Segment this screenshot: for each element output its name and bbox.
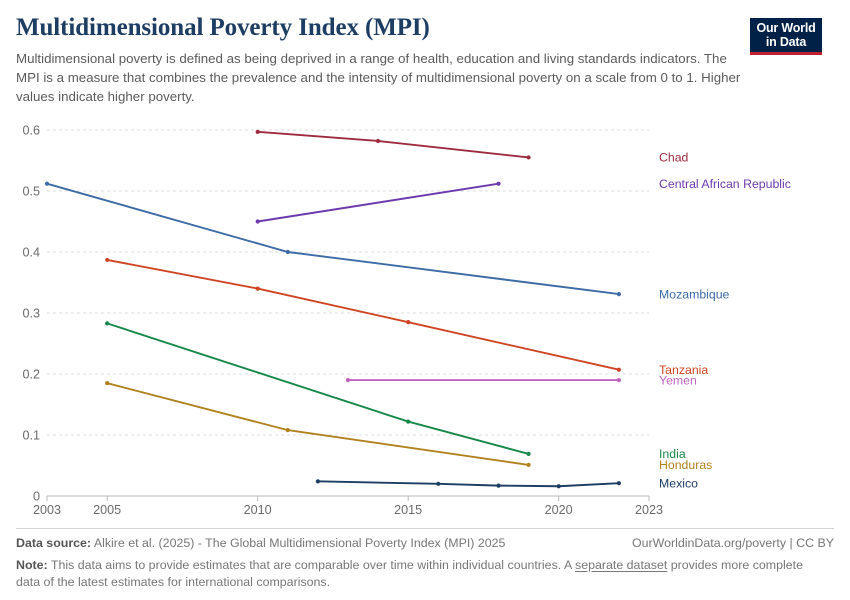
data-series[interactable] (105, 381, 531, 467)
owid-logo[interactable]: Our World in Data (750, 18, 822, 55)
data-point-marker[interactable] (105, 258, 109, 262)
data-point-marker[interactable] (256, 220, 260, 224)
y-axis-tick-label: 0.6 (22, 124, 40, 138)
chart-page: Multidimensional Poverty Index (MPI) Mul… (0, 0, 850, 600)
data-point-marker[interactable] (496, 484, 500, 488)
data-point-marker[interactable] (286, 250, 290, 254)
data-series[interactable] (105, 258, 621, 372)
note-text-before: This data aims to provide estimates that… (51, 558, 575, 572)
y-axis-tick-label: 0.5 (22, 185, 40, 199)
data-point-marker[interactable] (286, 428, 290, 432)
series-label[interactable]: Yemen (659, 374, 697, 388)
data-series[interactable] (105, 322, 531, 457)
attribution-link[interactable]: OurWorldinData.org/poverty | CC BY (632, 536, 834, 550)
y-axis-tick-label: 0 (33, 490, 40, 504)
data-point-marker[interactable] (527, 156, 531, 160)
y-axis-tick-label: 0.4 (22, 246, 40, 260)
series-line[interactable] (258, 132, 529, 158)
data-point-marker[interactable] (316, 480, 320, 484)
data-series[interactable] (256, 130, 531, 160)
series-label[interactable]: Honduras (659, 458, 712, 472)
series-line[interactable] (107, 383, 528, 465)
data-series[interactable] (45, 182, 621, 297)
x-axis-tick-label: 2005 (93, 503, 121, 517)
line-chart-svg[interactable]: 00.10.20.30.40.50.6 20032005201020152020… (16, 118, 834, 518)
series-label[interactable]: Chad (659, 151, 689, 165)
series-label[interactable]: Mozambique (659, 288, 730, 302)
data-source-label: Data source: (16, 536, 91, 550)
x-axis-tick-label: 2023 (635, 503, 663, 517)
chart-subtitle: Multidimensional poverty is defined as b… (16, 49, 751, 107)
grid-lines (47, 130, 649, 496)
data-point-marker[interactable] (105, 381, 109, 385)
data-point-marker[interactable] (256, 130, 260, 134)
x-axis-tick-label: 2020 (545, 503, 573, 517)
data-point-marker[interactable] (436, 482, 440, 486)
chart-footer: Data source: Alkire et al. (2025) - The … (16, 528, 834, 592)
data-series[interactable] (346, 378, 621, 382)
x-axis-tick-labels: 200320052010201520202023 (33, 503, 663, 517)
data-point-marker[interactable] (617, 481, 621, 485)
note-label: Note: (16, 558, 48, 572)
separate-dataset-link[interactable]: separate dataset (575, 558, 667, 572)
data-point-marker[interactable] (376, 139, 380, 143)
series-line[interactable] (258, 184, 499, 222)
chart-area[interactable]: 00.10.20.30.40.50.6 20032005201020152020… (16, 118, 834, 518)
footer-divider (16, 528, 834, 529)
x-axis-tick-label: 2010 (244, 503, 272, 517)
data-point-marker[interactable] (406, 320, 410, 324)
data-point-marker[interactable] (557, 484, 561, 488)
owid-logo-line1: Our World (752, 22, 820, 36)
x-axis-tick-label: 2003 (33, 503, 61, 517)
source-row: Data source: Alkire et al. (2025) - The … (16, 536, 834, 550)
page-title: Multidimensional Poverty Index (MPI) (16, 14, 834, 42)
series-label[interactable]: Central African Republic (659, 177, 791, 191)
chart-note: Note: This data aims to provide estimate… (16, 557, 806, 592)
series-label[interactable]: Mexico (659, 477, 698, 491)
x-axis (47, 496, 649, 501)
data-point-marker[interactable] (346, 378, 350, 382)
chart-header: Multidimensional Poverty Index (MPI) Mul… (16, 0, 834, 106)
data-source-text: Alkire et al. (2025) - The Global Multid… (94, 536, 506, 550)
data-point-marker[interactable] (105, 322, 109, 326)
series-labels-group[interactable]: ChadCentral African RepublicMozambiqueTa… (659, 151, 791, 491)
y-axis-tick-labels: 00.10.20.30.40.50.6 (22, 124, 40, 504)
data-point-marker[interactable] (617, 378, 621, 382)
x-axis-tick-label: 2015 (394, 503, 422, 517)
data-source: Data source: Alkire et al. (2025) - The … (16, 536, 505, 550)
data-series[interactable] (256, 182, 501, 224)
series-line[interactable] (47, 184, 619, 294)
data-point-marker[interactable] (617, 292, 621, 296)
y-axis-tick-label: 0.1 (22, 429, 40, 443)
series-line[interactable] (107, 260, 619, 370)
series-line[interactable] (318, 482, 619, 487)
data-point-marker[interactable] (496, 182, 500, 186)
y-axis-tick-label: 0.3 (22, 307, 40, 321)
data-point-marker[interactable] (406, 420, 410, 424)
y-axis-tick-label: 0.2 (22, 368, 40, 382)
data-point-marker[interactable] (617, 368, 621, 372)
data-point-marker[interactable] (527, 452, 531, 456)
owid-logo-line2: in Data (752, 36, 820, 50)
data-point-marker[interactable] (256, 287, 260, 291)
data-point-marker[interactable] (45, 182, 49, 186)
data-point-marker[interactable] (527, 463, 531, 467)
data-series[interactable] (316, 480, 621, 489)
